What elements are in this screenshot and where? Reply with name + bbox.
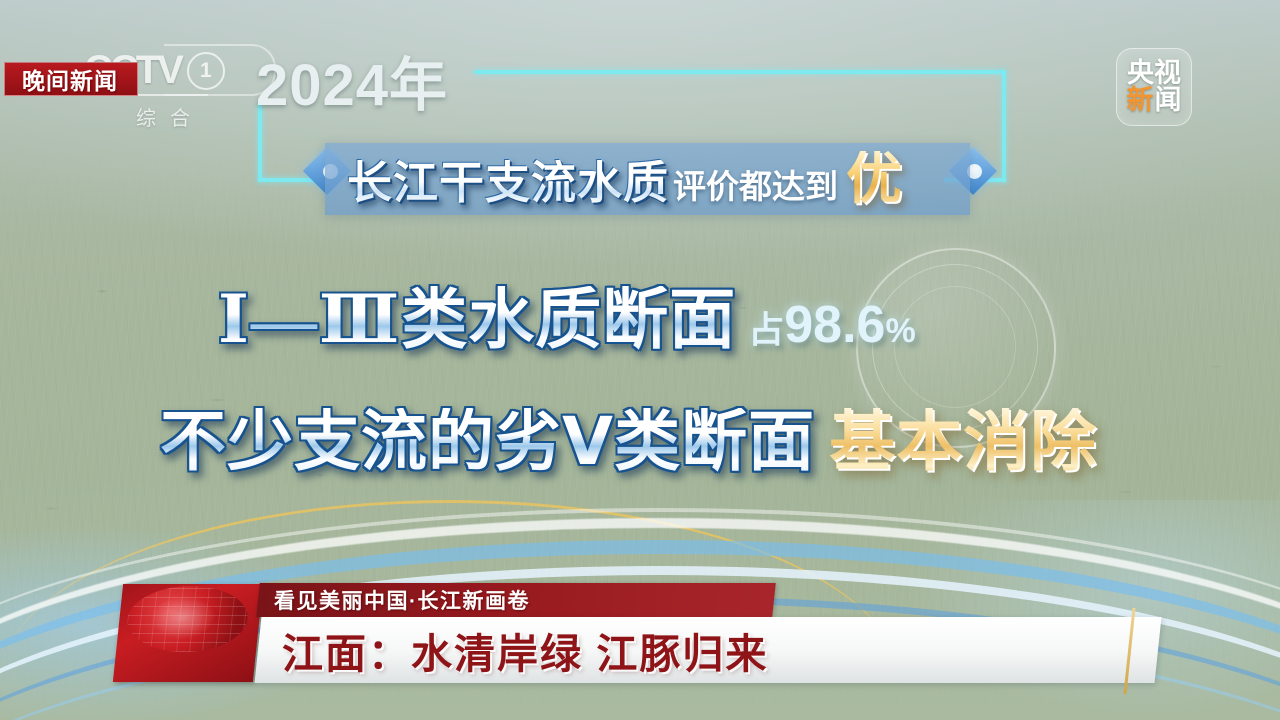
banner-predicate-text: 评价都达到 (673, 170, 838, 203)
headline-text: 江面：水清岸绿 江豚归来 (282, 620, 768, 680)
year-label: 2024年 (256, 38, 448, 122)
globe-grid-icon (124, 586, 251, 652)
percentage-value: 98.6 (784, 296, 885, 354)
statement-banner: 长江干支流水质 评价都达到 优 (325, 143, 970, 215)
inferior-class-subject: 不少支流的劣Ⅴ类断面 (160, 408, 815, 474)
channel-subtitle: 综合 (90, 102, 250, 131)
news-logo-text-xin: 新 (1127, 87, 1154, 114)
news-logo-text-wen: 闻 (1155, 87, 1182, 114)
news-logo-line-1: 央视 (1127, 60, 1181, 87)
kicker-text: 看见美丽中国·长江新画卷 (274, 586, 530, 614)
broadcast-frame: CCTV 1 综合 央视 新 闻 2024年 长江干支流水质 评价都达到 优 Ⅰ… (0, 0, 1280, 720)
program-label: 晚间新闻 (0, 62, 140, 96)
cctv-news-logo: 央视 新 闻 (1116, 48, 1192, 126)
statement-banner-content: 长江干支流水质 评价都达到 优 (325, 151, 902, 207)
program-logo-box (113, 584, 263, 682)
statistic-line-water-quality: Ⅰ—Ⅲ 类水质断面 占98.6% (218, 286, 916, 354)
inferior-class-result: 基本消除 (829, 408, 1097, 474)
percentage-prefix: 占 (748, 309, 784, 350)
news-logo-line-2: 新 闻 (1127, 87, 1182, 114)
water-quality-subject: 类水质断面 (401, 286, 736, 352)
news-logo-text-yangshi: 央视 (1127, 60, 1181, 87)
percentage-unit: % (885, 312, 915, 350)
banner-highlight-text: 长江干支流水质 (347, 160, 669, 205)
water-quality-percentage: 占98.6% (748, 299, 915, 351)
statistic-line-inferior-class: 不少支流的劣Ⅴ类断面 基本消除 (160, 408, 1097, 474)
banner-verdict-text: 优 (846, 151, 902, 207)
roman-numeral-range: Ⅰ—Ⅲ (218, 288, 401, 354)
